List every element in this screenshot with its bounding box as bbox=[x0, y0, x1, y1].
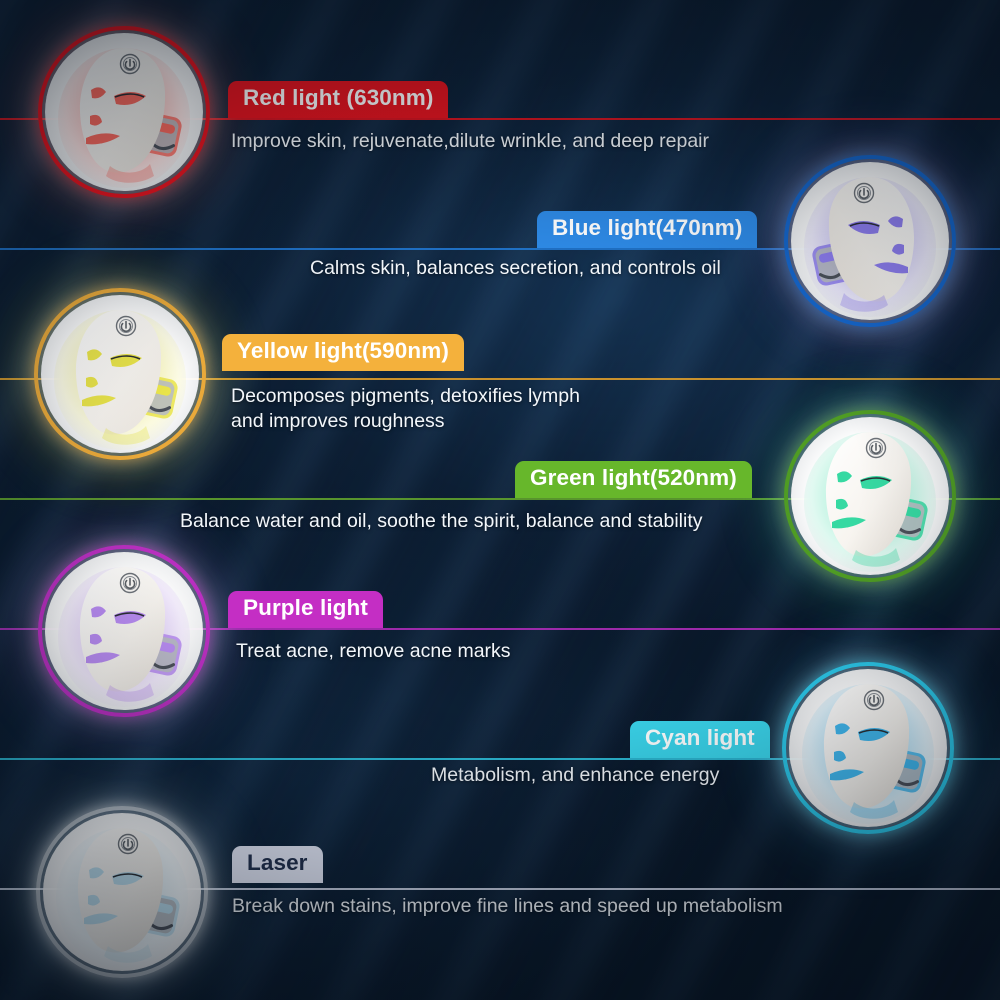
light-badge-cyan[interactable]: Cyan light bbox=[630, 721, 770, 758]
infographic-poster: Red light (630nm)Improve skin, rejuvenat… bbox=[0, 0, 1000, 1000]
light-badge-purple[interactable]: Purple light bbox=[228, 591, 383, 628]
light-description-yellow: Decomposes pigments, detoxifies lymph an… bbox=[231, 384, 580, 434]
light-description-green: Balance water and oil, soothe the spirit… bbox=[180, 509, 702, 534]
light-rows: Red light (630nm)Improve skin, rejuvenat… bbox=[0, 0, 1000, 1000]
light-description-red: Improve skin, rejuvenate,dilute wrinkle,… bbox=[231, 129, 709, 154]
light-description-laser: Break down stains, improve fine lines an… bbox=[232, 894, 783, 919]
light-badge-blue[interactable]: Blue light(470nm) bbox=[537, 211, 757, 248]
light-description-cyan: Metabolism, and enhance energy bbox=[431, 763, 719, 788]
light-badge-green[interactable]: Green light(520nm) bbox=[515, 461, 752, 498]
light-description-purple: Treat acne, remove acne marks bbox=[236, 639, 511, 664]
light-badge-yellow[interactable]: Yellow light(590nm) bbox=[222, 334, 464, 371]
light-badge-laser[interactable]: Laser bbox=[232, 846, 323, 883]
light-description-blue: Calms skin, balances secretion, and cont… bbox=[310, 256, 721, 281]
light-badge-red[interactable]: Red light (630nm) bbox=[228, 81, 448, 118]
